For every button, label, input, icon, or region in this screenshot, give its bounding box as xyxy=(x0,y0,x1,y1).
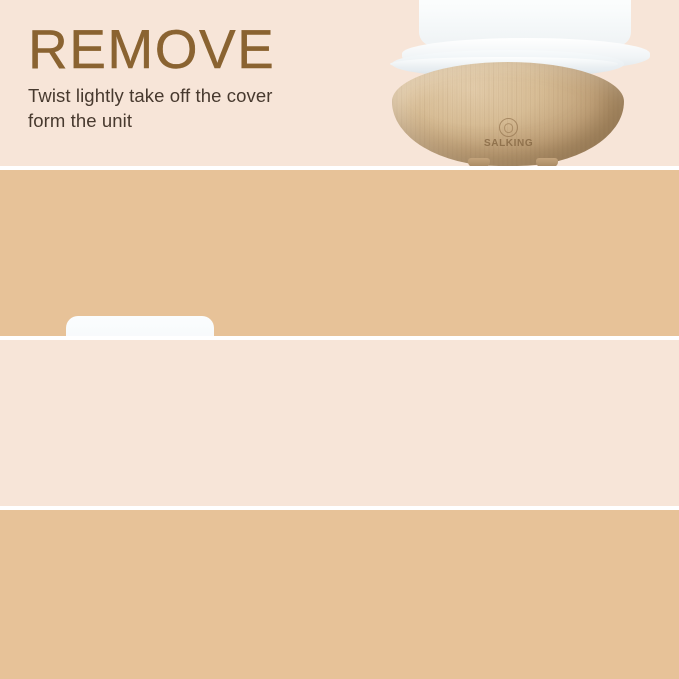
brand-name-engraving: SALKING xyxy=(484,138,533,149)
step-panel-remove: SALKING REMOVE Twist lightly take off th… xyxy=(0,0,679,166)
diffuser-collar-lower xyxy=(390,57,618,71)
diffuser-foot-right xyxy=(536,158,558,166)
step-body-remove: Twist lightly take off the cover form th… xyxy=(28,84,275,133)
diffuser-wood-base xyxy=(392,62,624,166)
diffuser-collar-middle xyxy=(392,50,624,78)
step-body-line: Twist lightly take off the cover xyxy=(28,84,275,109)
step-panel-add: ADD Fill water tank to under the max lin… xyxy=(0,340,679,506)
step-body-line: form the unit xyxy=(28,109,275,134)
diffuser-lid xyxy=(66,316,214,336)
panel-divider xyxy=(0,336,679,340)
diffuser-cover-removed-photo: SALKING xyxy=(396,0,679,166)
panel-divider xyxy=(0,166,679,170)
diffuser-collar-upper xyxy=(402,38,650,72)
brand-logo-icon xyxy=(499,118,518,137)
diffuser-foot-left xyxy=(468,158,490,166)
product-instruction-infographic: SALKING REMOVE Twist lightly take off th… xyxy=(0,0,679,679)
step-panel-plugin: PLUG IN Connect the cable to power jack … xyxy=(0,170,679,336)
step-text-remove: REMOVE Twist lightly take off the cover … xyxy=(28,22,275,133)
step-panel-operate: SALKING OPERATE Recover the shell and pr… xyxy=(0,510,679,679)
step-heading-remove: REMOVE xyxy=(28,22,275,77)
panel-divider xyxy=(0,506,679,510)
diffuser-lid xyxy=(419,0,631,46)
